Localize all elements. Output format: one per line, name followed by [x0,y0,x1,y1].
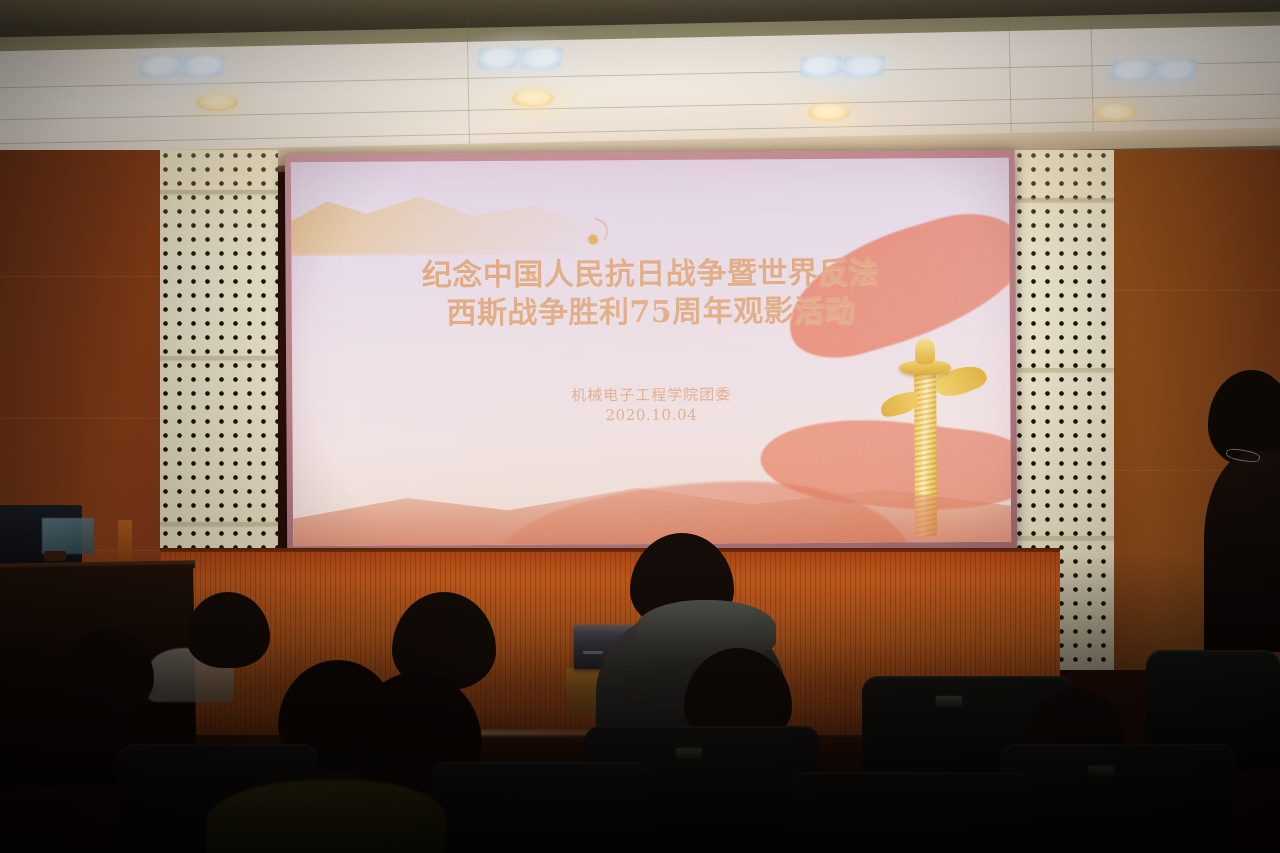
desk-object [44,551,66,561]
audience-hood [636,600,776,658]
peace-dove-icon [585,226,611,248]
ceiling-downlight [512,90,554,107]
laptop-display[interactable] [42,518,94,554]
fluorescent-light [800,56,886,78]
auditorium-scene: 纪念中国人民抗日战争暨世界反法 西斯战争胜利75周年观影活动 机械电子工程学院团… [0,0,1280,853]
slide-text-block: 纪念中国人民抗日战争暨世界反法 西斯战争胜利75周年观影活动 机械电子工程学院团… [291,254,1010,426]
audience-body-right [1204,452,1280,652]
fluorescent-light [1112,60,1198,82]
ceiling-downlight [1094,104,1136,121]
theater-seat[interactable] [430,762,650,853]
ceiling-downlight [196,94,238,111]
projection-screen[interactable]: 纪念中国人民抗日战争暨世界反法 西斯战争胜利75周年观影活动 机械电子工程学院团… [291,158,1011,546]
ceiling-downlight [808,104,850,121]
theater-seat[interactable] [790,772,1030,853]
seat-number-plate [1088,766,1114,776]
seat-number-plate [936,696,962,706]
theater-seat[interactable] [1000,744,1236,853]
seat-number-plate [676,748,702,758]
slide-mountain-motif [291,184,612,256]
ceiling [0,0,1280,172]
slide-title-line-2: 西斯战争胜利75周年观影活动 [292,292,1010,334]
fluorescent-light [478,48,564,70]
slide-title-line-1: 纪念中国人民抗日战争暨世界反法 [291,254,1009,296]
audience-jacket [206,780,446,853]
fluorescent-light [140,56,226,78]
